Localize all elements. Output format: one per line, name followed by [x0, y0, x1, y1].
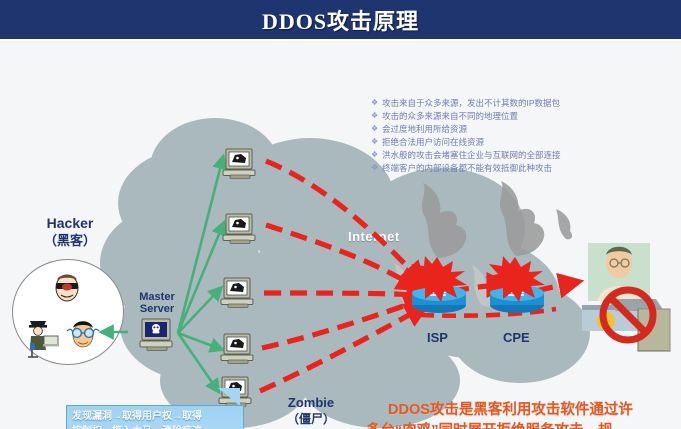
bullet-text: 攻击来自于众多来源，发出不计其数的IP数据包: [382, 97, 560, 109]
master-server-label: Master Server: [126, 291, 188, 315]
bullet-text: 会过度地利用所给资源: [382, 123, 467, 135]
zombie-label-en: Zombie: [288, 395, 334, 410]
master-server-line1: Master: [139, 291, 174, 303]
zombie-computer[interactable]: [222, 148, 262, 182]
slide-title-banner: DDOS攻击原理: [0, 0, 681, 41]
isp-explosion-icon: [405, 255, 469, 303]
bullet-text: 终端客户的内部设备都不能有效抵御此种攻击: [382, 162, 552, 174]
hacker-label: Hacker （黑客）: [24, 215, 116, 249]
list-item: ❖ 拒绝合法用户访问在线资源: [371, 136, 677, 148]
cpe-explosion-icon: [483, 255, 547, 303]
list-item: ❖ 终端客户的内部设备都不能有效抵御此种攻击: [371, 162, 677, 174]
masked-hacker-face-icon: [52, 269, 82, 303]
diagram-canvas: Internet ❖ 攻击来自于众多来源，发出不计其数的IP数据包 ❖ 攻击的众…: [0, 43, 681, 429]
diamond-bullet-icon: ❖: [371, 149, 382, 161]
attack-preparation-callout: 发现漏洞→取得用户权→取得 控制权→植入木马→清除痕迹 →留后门→做好攻击准备: [66, 405, 244, 429]
zombie-computer[interactable]: [222, 213, 262, 247]
callout-line: 发现漏洞→取得用户权→取得: [72, 409, 239, 424]
isp-label: ISP: [427, 330, 448, 345]
hacker-face-glasses-icon: [66, 315, 100, 349]
bullet-list: ❖ 攻击来自于众多来源，发出不计其数的IP数据包 ❖ 攻击的众多来源来自不同的地…: [371, 97, 677, 175]
summary-line: 多台“肉鸡”同时展开拒绝服务攻击，规: [366, 421, 678, 429]
summary-line: DDOS攻击是黑客利用攻击软件通过许: [366, 400, 678, 421]
summary-text: DDOS攻击是黑客利用攻击软件通过许 多台“肉鸡”同时展开拒绝服务攻击，规 模更…: [366, 400, 678, 429]
diamond-bullet-icon: ❖: [371, 162, 382, 174]
bullet-text: 攻击的众多来源来自不同的地理位置: [382, 110, 518, 122]
callout-line: 控制权→植入木马→清除痕迹: [72, 424, 239, 429]
callout-tail: [208, 388, 240, 406]
cpe-label: CPE: [503, 330, 530, 345]
bullet-text: 拒绝合法用户访问在线资源: [382, 136, 484, 148]
diamond-bullet-icon: ❖: [371, 123, 382, 135]
hacker-at-laptop-icon: [22, 317, 62, 359]
master-server-computer-icon: [138, 317, 176, 353]
slide-ddos-principle: DDOS攻击原理 Internet: [0, 0, 681, 429]
zombie-label-cn: （僵尸）: [287, 412, 335, 426]
zombie-label: Zombie （僵尸）: [270, 395, 352, 427]
list-item: ❖ 攻击的众多来源来自不同的地理位置: [371, 110, 677, 122]
victim-server-target: [572, 241, 676, 357]
list-item: ❖ 攻击来自于众多来源，发出不计其数的IP数据包: [371, 97, 677, 109]
page-title: DDOS攻击原理: [262, 4, 419, 36]
zombie-computer[interactable]: [220, 277, 260, 311]
hacker-label-cn: （黑客）: [44, 233, 96, 248]
list-item: ❖ 洪水般的攻击会堵塞住企业与互联网的全部连接: [371, 149, 677, 161]
zombie-computer[interactable]: [220, 333, 260, 367]
bullet-text: 洪水般的攻击会堵塞住企业与互联网的全部连接: [382, 149, 561, 161]
diamond-bullet-icon: ❖: [371, 136, 382, 148]
diamond-bullet-icon: ❖: [371, 110, 382, 122]
list-item: ❖ 会过度地利用所给资源: [371, 123, 677, 135]
hacker-label-en: Hacker: [47, 215, 94, 231]
master-server-line2: Server: [140, 303, 174, 315]
diamond-bullet-icon: ❖: [371, 97, 382, 109]
